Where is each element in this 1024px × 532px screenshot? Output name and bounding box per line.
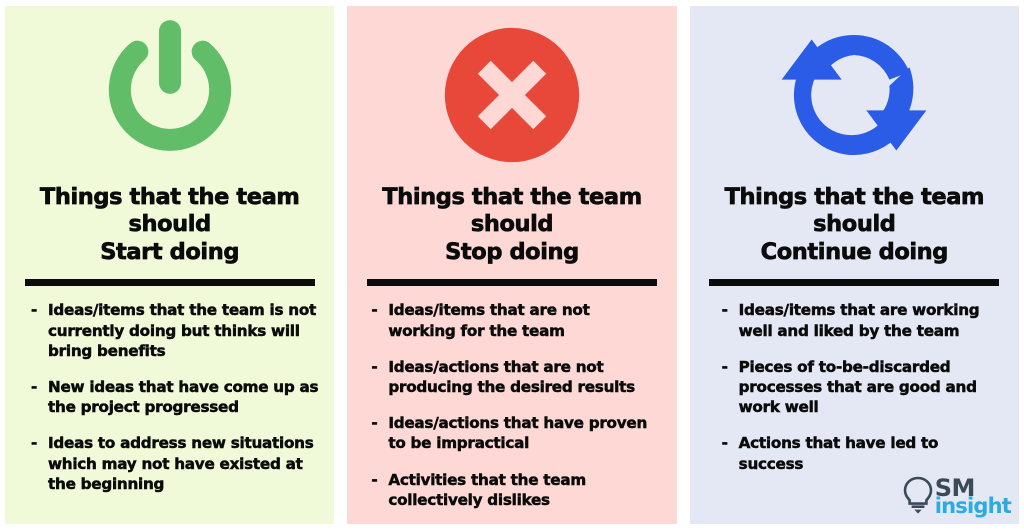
title-line-1: Things that the team should (382, 184, 641, 237)
bullet-marker: - (722, 300, 739, 320)
list-item: - Ideas/items that are working well and … (722, 300, 1003, 340)
logo-secondary-text: insight (935, 498, 1011, 515)
bullet-text: Ideas to address new situations which ma… (48, 433, 318, 494)
power-icon (5, 6, 334, 184)
bullet-text: Ideas/items that the team is not current… (48, 300, 318, 361)
column-stop: Things that the team should Stop doing -… (347, 6, 676, 524)
bullet-text: New ideas that have come up as the proje… (48, 377, 318, 417)
title-divider (367, 279, 657, 286)
bullet-text: Actions that have led to success (739, 433, 1003, 473)
list-item: - Ideas/items that the team is not curre… (31, 300, 318, 361)
bullet-marker: - (31, 377, 48, 397)
column-title: Things that the team should Start doing (5, 184, 334, 266)
title-divider (709, 279, 999, 286)
bullet-marker: - (31, 300, 48, 320)
bullet-list: - Ideas/items that the team is not curre… (5, 286, 334, 524)
bullet-marker: - (371, 413, 388, 433)
column-continue: Things that the team should Continue doi… (690, 6, 1019, 524)
column-title: Things that the team should Stop doing (347, 184, 676, 266)
bullet-marker: - (371, 300, 388, 320)
title-line-2: Stop doing (355, 239, 668, 266)
column-start: Things that the team should Start doing … (5, 6, 334, 524)
logo-wordmark: SM insight (935, 479, 1011, 515)
bullet-text: Pieces of to-be-discarded processes that… (739, 357, 1003, 418)
column-title: Things that the team should Continue doi… (690, 184, 1019, 266)
list-item: - Pieces of to-be-discarded processes th… (722, 357, 1003, 418)
title-line-2: Continue doing (698, 239, 1011, 266)
title-line-1: Things that the team should (725, 184, 984, 237)
brand-logo: SM insight (901, 476, 1011, 518)
bullet-marker: - (31, 433, 48, 453)
lightbulb-icon (901, 475, 935, 519)
title-line-1: Things that the team should (40, 184, 299, 237)
list-item: - Ideas to address new situations which … (31, 433, 318, 494)
bullet-text: Activities that the team collectively di… (388, 470, 660, 510)
bullet-text: Ideas/actions that are not producing the… (388, 357, 660, 397)
bullet-marker: - (722, 357, 739, 377)
list-item: - New ideas that have come up as the pro… (31, 377, 318, 417)
list-item: - Actions that have led to success (722, 433, 1003, 473)
circle-x-icon (347, 6, 676, 184)
list-item: - Ideas/actions that have proven to be i… (371, 413, 660, 453)
bullet-marker: - (722, 433, 739, 453)
refresh-cycle-icon (690, 6, 1019, 184)
list-item: - Ideas/actions that are not producing t… (371, 357, 660, 397)
infographic-board: Things that the team should Start doing … (0, 0, 1024, 532)
title-divider (25, 279, 315, 286)
bullet-text: Ideas/items that are working well and li… (739, 300, 1003, 340)
list-item: - Ideas/items that are not working for t… (371, 300, 660, 340)
bullet-text: Ideas/items that are not working for the… (388, 300, 660, 340)
bullet-marker: - (371, 357, 388, 377)
title-line-2: Start doing (13, 239, 326, 266)
bullet-marker: - (371, 470, 388, 490)
bullet-list: - Ideas/items that are not working for t… (347, 286, 676, 524)
list-item: - Activities that the team collectively … (371, 470, 660, 510)
bullet-text: Ideas/actions that have proven to be imp… (388, 413, 660, 453)
